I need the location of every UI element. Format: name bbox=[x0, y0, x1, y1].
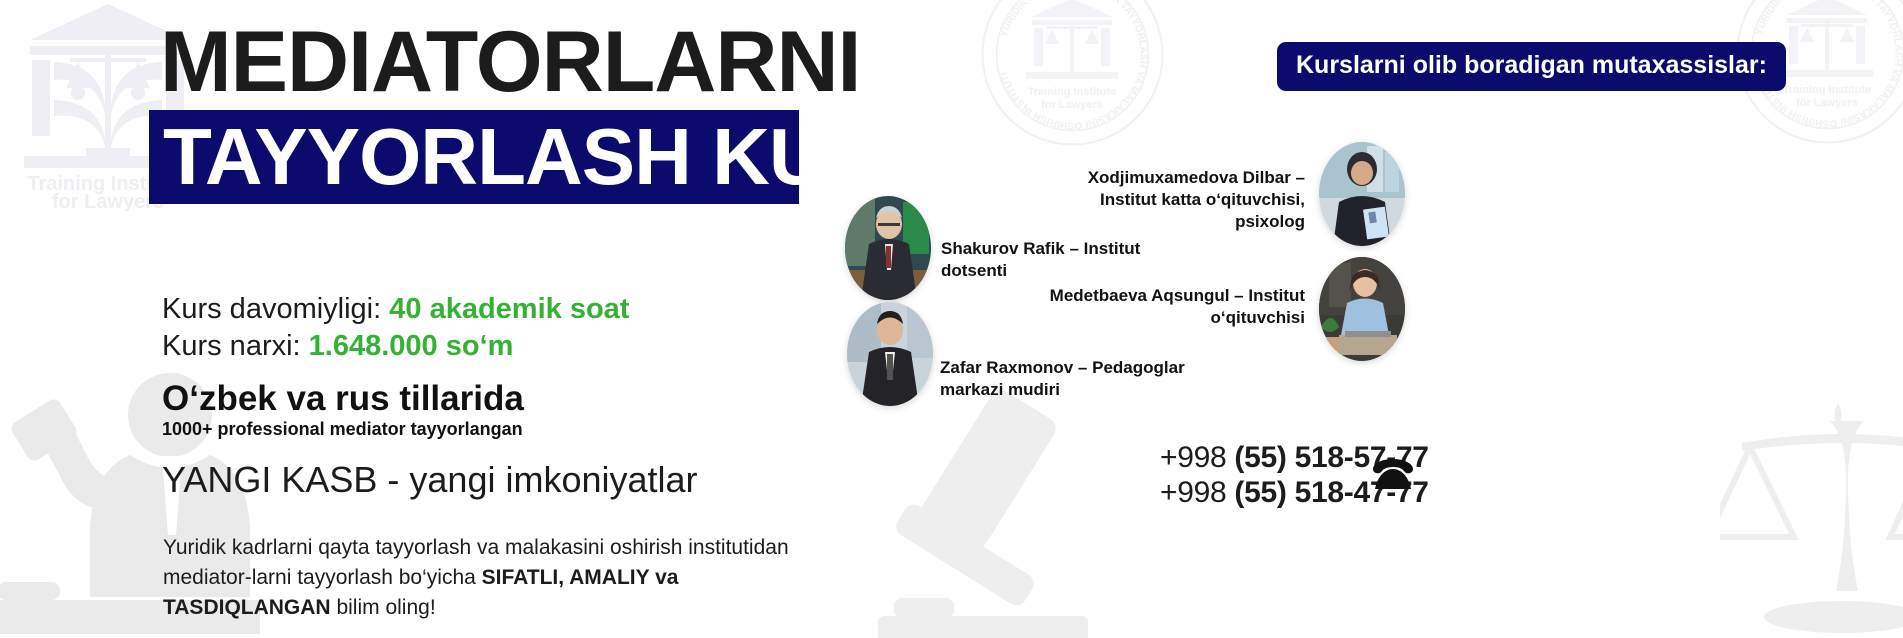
expert-name-xodjimuxamedova: Xodjimuxamedova Dilbar – Institut katta … bbox=[1040, 167, 1305, 233]
course-price: Kurs narxi: 1.648.000 so‘m bbox=[162, 328, 629, 365]
course-duration: Kurs davomiyligi: 40 akademik soat bbox=[162, 291, 629, 328]
phone-row-1[interactable]: +998 (55) 518-57-77 bbox=[1160, 440, 1360, 475]
languages-title: O‘zbek va rus tillarida bbox=[162, 379, 524, 419]
expert-name-medetbaeva: Medetbaeva Aqsungul – Institut o‘qituvch… bbox=[1020, 285, 1305, 329]
description-part2: bilim oling! bbox=[331, 596, 436, 619]
contact-phones[interactable]: +998 (55) 518-57-77 +998 (55) 518-47-77 bbox=[1160, 440, 1360, 511]
right-content: Kurslarni olib boradigan mutaxassislar: … bbox=[1000, 0, 1903, 638]
description-part1: Yuridik kadrlarni qayta tayyorlash va ma… bbox=[163, 536, 789, 589]
expert-photo-raxmonov bbox=[847, 302, 933, 406]
course-duration-value: 40 akademik soat bbox=[389, 293, 629, 325]
telephone-icon bbox=[1370, 455, 1416, 495]
left-content: MEDIATORLARNI TAYYORLASH KURSI Kurs davo… bbox=[0, 0, 1000, 638]
description-paragraph: Yuridik kadrlarni qayta tayyorlash va ma… bbox=[163, 533, 803, 622]
languages-subtitle: 1000+ professional mediator tayyorlangan bbox=[162, 419, 523, 440]
course-duration-label: Kurs davomiyligi: bbox=[162, 293, 381, 325]
expert-photo-xodjimuxamedova bbox=[1319, 142, 1405, 246]
expert-photo-shakurov bbox=[845, 196, 931, 300]
headline-line2: TAYYORLASH KURSI bbox=[149, 117, 956, 197]
course-facts: Kurs davomiyligi: 40 akademik soat Kurs … bbox=[162, 291, 629, 365]
slogan: YANGI KASB - yangi imkoniyatlar bbox=[162, 459, 698, 501]
headline-band: TAYYORLASH KURSI bbox=[149, 110, 799, 204]
course-price-value: 1.648.000 so‘m bbox=[309, 330, 514, 362]
experts-badge: Kurslarni olib boradigan mutaxassislar: bbox=[1277, 42, 1786, 91]
phone-2-prefix: +998 bbox=[1160, 476, 1234, 509]
course-price-label: Kurs narxi: bbox=[162, 330, 301, 362]
phone-row-2[interactable]: +998 (55) 518-47-77 bbox=[1160, 475, 1360, 510]
expert-name-raxmonov: Zafar Raxmonov – Pedagoglar markazi mudi… bbox=[940, 357, 1230, 401]
promo-banner: Training Institute for Lawyers Training … bbox=[0, 0, 1903, 638]
expert-photo-medetbaeva bbox=[1319, 257, 1405, 361]
phone-1-prefix: +998 bbox=[1160, 441, 1234, 474]
headline-line1: MEDIATORLARNI bbox=[160, 22, 860, 104]
expert-name-shakurov: Shakurov Rafik – Institut dotsenti bbox=[941, 238, 1191, 282]
